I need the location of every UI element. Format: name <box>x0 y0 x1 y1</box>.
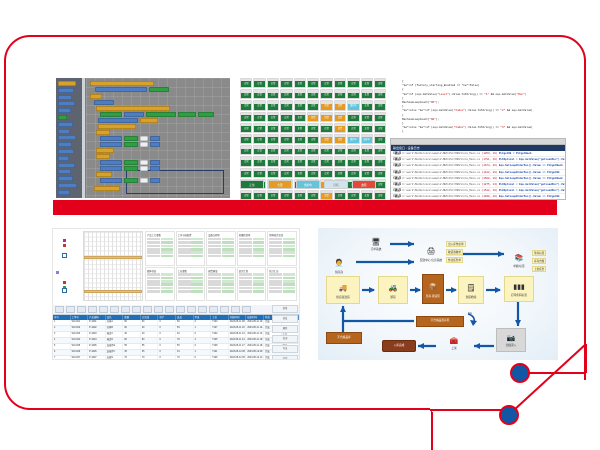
status-cell[interactable]: 正常 <box>267 100 279 110</box>
toolbar-button[interactable] <box>110 306 119 313</box>
status-cell[interactable]: 正常 <box>240 168 252 178</box>
side-action-button[interactable]: 查询 <box>272 335 298 343</box>
toolbar-button[interactable] <box>66 306 75 313</box>
flow-node-doc-stack[interactable]: 📚单据/标签 <box>508 248 530 272</box>
toolbar-button[interactable] <box>231 306 240 313</box>
table-toolbar[interactable] <box>53 305 299 315</box>
parameter-value[interactable] <box>283 248 295 251</box>
status-cell[interactable]: 正常 <box>334 89 346 99</box>
status-cell[interactable]: 维护中 <box>347 100 359 110</box>
workspace-block[interactable] <box>150 142 160 147</box>
status-cell[interactable]: 正常 <box>253 145 265 155</box>
blockly-scrollbar[interactable] <box>82 78 85 198</box>
parameter-value[interactable] <box>283 251 295 254</box>
status-cell[interactable]: 正常 <box>374 168 386 178</box>
tree-node-box[interactable] <box>62 288 67 293</box>
parameter-row[interactable] <box>239 290 265 293</box>
workspace-block[interactable] <box>146 112 176 117</box>
parameter-row[interactable] <box>208 251 234 254</box>
status-cell[interactable]: 正常 <box>334 190 346 200</box>
parameter-row[interactable] <box>178 241 204 244</box>
parameter-value[interactable] <box>253 280 265 283</box>
palette-block[interactable] <box>58 149 74 154</box>
workspace-block[interactable] <box>96 172 112 177</box>
parameter-group[interactable]: 物料批次信息 <box>267 231 297 266</box>
parameter-row[interactable] <box>147 245 173 248</box>
status-cell[interactable]: 告警 <box>334 100 346 110</box>
status-cell[interactable]: 正常 <box>280 145 292 155</box>
blockly-workspace[interactable] <box>86 78 230 198</box>
status-cell[interactable]: 正常 <box>320 156 332 166</box>
status-cell[interactable]: 正常 <box>361 89 373 99</box>
parameter-value[interactable] <box>161 280 173 283</box>
status-cell[interactable]: 告警 <box>320 134 332 144</box>
status-cell[interactable]: 正常 <box>307 168 319 178</box>
parameter-group[interactable]: 设备点检项 <box>206 231 236 266</box>
flow-node-order-system[interactable]: 🖥订单系统 <box>363 234 389 254</box>
status-cell[interactable]: 正常 <box>374 112 386 122</box>
parameter-row[interactable] <box>208 277 234 280</box>
status-cell[interactable]: 正常 <box>361 145 373 155</box>
parameter-value[interactable] <box>222 283 234 286</box>
parameter-row[interactable] <box>269 255 295 258</box>
status-cell[interactable]: 正常 <box>280 168 292 178</box>
workspace-block[interactable] <box>90 81 154 86</box>
status-cell[interactable]: 正常 <box>307 123 319 133</box>
tree-node-marker[interactable] <box>63 244 66 247</box>
status-cell[interactable]: 正常 <box>240 123 252 133</box>
workspace-block[interactable] <box>149 87 169 92</box>
flow-node-reject-zone[interactable]: 不合格品库 <box>326 332 362 344</box>
parameter-row[interactable] <box>178 273 204 276</box>
side-action-button[interactable]: 删除 <box>272 325 298 333</box>
status-cell[interactable]: 正常 <box>240 100 252 110</box>
status-cell[interactable]: 正常 <box>347 190 359 200</box>
parameter-value[interactable] <box>161 251 173 254</box>
workspace-block[interactable] <box>124 160 138 165</box>
status-cell[interactable]: 正常 <box>294 100 306 110</box>
palette-block[interactable] <box>58 176 73 181</box>
palette-block[interactable] <box>58 156 69 161</box>
status-cell[interactable]: 正常 <box>320 123 332 133</box>
status-cell[interactable]: 正常 <box>280 123 292 133</box>
parameter-group[interactable]: 班次计划 <box>237 267 267 302</box>
side-action-button[interactable]: 新增 <box>272 305 298 313</box>
toolbar-button[interactable] <box>198 306 207 313</box>
parameter-row[interactable] <box>147 273 173 276</box>
status-cell[interactable]: 正常 <box>294 78 306 88</box>
status-cell[interactable]: 正常 <box>374 190 386 200</box>
parameter-value[interactable] <box>253 241 265 244</box>
parameter-row[interactable] <box>178 290 204 293</box>
parameter-row[interactable] <box>147 290 173 293</box>
toolbar-button[interactable] <box>132 306 141 313</box>
parameter-value[interactable] <box>222 287 234 290</box>
palette-block[interactable] <box>58 135 76 140</box>
parameter-value[interactable] <box>161 238 173 241</box>
status-cell[interactable]: 正常 <box>253 100 265 110</box>
timeline-bar[interactable] <box>84 256 142 259</box>
status-cell[interactable]: 正常 <box>361 190 373 200</box>
parameter-group[interactable]: 产品工艺参数 <box>145 231 175 266</box>
status-cell[interactable]: 正常 <box>307 156 319 166</box>
parameter-row[interactable] <box>239 280 265 283</box>
toolbar-button[interactable] <box>176 306 185 313</box>
workspace-block[interactable] <box>140 136 148 141</box>
parameter-value[interactable] <box>222 251 234 254</box>
workspace-block[interactable] <box>140 166 148 171</box>
parameter-value[interactable] <box>283 273 295 276</box>
parameter-value[interactable] <box>191 255 203 258</box>
status-cell[interactable]: 告警 <box>334 123 346 133</box>
status-cell[interactable]: 正常 <box>307 89 319 99</box>
status-cell[interactable]: 正常 <box>374 100 386 110</box>
status-cell[interactable]: 正常 <box>253 78 265 88</box>
status-cell[interactable]: 正常 <box>320 168 332 178</box>
status-cell[interactable]: 正常 <box>253 112 265 122</box>
status-cell[interactable]: 正常 <box>334 156 346 166</box>
parameter-row[interactable] <box>269 248 295 251</box>
status-cell[interactable]: 正常 <box>361 78 373 88</box>
parameter-group[interactable]: 线体状态 <box>145 267 175 302</box>
parameter-row[interactable] <box>178 283 204 286</box>
status-cell[interactable]: 维护中 <box>347 134 359 144</box>
status-cell[interactable]: 正常 <box>374 134 386 144</box>
flow-node-supplier[interactable]: 🧑‍💼供应商 <box>324 252 354 278</box>
parameter-value[interactable] <box>222 277 234 280</box>
status-cell[interactable]: 正常 <box>294 134 306 144</box>
workspace-block[interactable] <box>140 142 148 147</box>
workspace-block[interactable] <box>150 160 160 165</box>
parameter-group[interactable]: 工位参数 <box>176 267 206 302</box>
table-side-buttons[interactable]: 新增修改删除查询导出打印关闭 <box>272 305 298 359</box>
status-cell[interactable]: 正常 <box>361 112 373 122</box>
toolbar-button[interactable] <box>220 306 229 313</box>
workspace-block[interactable] <box>100 166 122 171</box>
palette-block[interactable] <box>58 190 70 195</box>
status-cell[interactable]: 正常 <box>267 168 279 178</box>
workspace-block[interactable] <box>100 112 122 117</box>
palette-block[interactable] <box>58 115 67 120</box>
workspace-block[interactable] <box>198 112 214 117</box>
status-cell[interactable]: 正常 <box>347 78 359 88</box>
status-cell[interactable]: 正常 <box>347 89 359 99</box>
parameter-value[interactable] <box>253 238 265 241</box>
status-cell[interactable]: 正常 <box>347 145 359 155</box>
parameter-row[interactable] <box>269 283 295 286</box>
parameter-value[interactable] <box>253 251 265 254</box>
parameter-value[interactable] <box>253 273 265 276</box>
toolbar-button[interactable] <box>55 306 64 313</box>
parameter-row[interactable] <box>208 245 234 248</box>
flow-node-done[interactable]: 入库完成 <box>382 340 416 352</box>
parameter-value[interactable] <box>191 280 203 283</box>
parameter-row[interactable] <box>147 287 173 290</box>
parameter-value[interactable] <box>191 248 203 251</box>
workspace-block[interactable] <box>96 154 110 159</box>
toolbar-button[interactable] <box>77 306 86 313</box>
parameter-row[interactable] <box>208 290 234 293</box>
parameter-value[interactable] <box>191 277 203 280</box>
scada-timeline-grid[interactable] <box>83 231 143 301</box>
parameter-row[interactable] <box>239 248 265 251</box>
parameter-row[interactable] <box>178 251 204 254</box>
status-cell[interactable]: 告警 <box>334 112 346 122</box>
palette-block[interactable] <box>58 101 75 106</box>
workspace-block[interactable] <box>100 142 122 147</box>
workspace-block[interactable] <box>150 178 160 183</box>
parameter-row[interactable] <box>269 251 295 254</box>
parameter-row[interactable] <box>208 238 234 241</box>
parameter-group[interactable]: 报警阈值 <box>206 267 236 302</box>
parameter-row[interactable] <box>178 255 204 258</box>
log-row-list[interactable]: 【调试】C:\work\MesService\sample\MES\PLC\ME… <box>391 151 565 200</box>
palette-block[interactable] <box>58 183 77 188</box>
parameter-value[interactable] <box>222 245 234 248</box>
status-cell[interactable]: 正常 <box>253 89 265 99</box>
status-cell[interactable]: 正常 <box>240 89 252 99</box>
parameter-value[interactable] <box>253 255 265 258</box>
parameter-row[interactable] <box>208 255 234 258</box>
status-cell[interactable]: 正常 <box>280 89 292 99</box>
parameter-value[interactable] <box>283 287 295 290</box>
status-cell[interactable]: 正常 <box>280 78 292 88</box>
parameter-value[interactable] <box>222 290 234 293</box>
parameter-group[interactable]: 统计汇总 <box>267 267 297 302</box>
status-cell[interactable]: 正常 <box>294 145 306 155</box>
status-cell[interactable]: 告警 <box>320 190 332 200</box>
status-cell[interactable]: 正常 <box>307 134 319 144</box>
parameter-row[interactable] <box>239 245 265 248</box>
status-cell[interactable]: 正常 <box>280 156 292 166</box>
status-cell[interactable]: 正常 <box>253 168 265 178</box>
toolbar-button[interactable] <box>143 306 152 313</box>
status-cell[interactable]: 正常 <box>294 89 306 99</box>
toolbar-button[interactable] <box>99 306 108 313</box>
status-cell[interactable]: 正常 <box>280 134 292 144</box>
workspace-block[interactable] <box>140 160 148 165</box>
parameter-row[interactable] <box>208 241 234 244</box>
log-row[interactable]: 【调试】C:\work\MesService\sample\MES\PLC\ME… <box>391 194 565 200</box>
status-cell[interactable]: 正常 <box>374 123 386 133</box>
palette-block[interactable] <box>58 122 73 127</box>
parameter-value[interactable] <box>253 245 265 248</box>
status-cell[interactable]: 正常 <box>374 145 386 155</box>
status-cell[interactable]: 正常 <box>374 156 386 166</box>
workspace-block[interactable] <box>124 166 138 171</box>
parameter-value[interactable] <box>161 248 173 251</box>
status-cell[interactable]: 正常 <box>334 145 346 155</box>
status-cell[interactable]: 正常 <box>240 156 252 166</box>
parameter-value[interactable] <box>191 290 203 293</box>
workspace-block[interactable] <box>98 124 136 129</box>
flow-node-staging[interactable]: 📦暂存 理货区 <box>422 274 444 304</box>
parameter-value[interactable] <box>222 273 234 276</box>
workspace-block[interactable] <box>124 136 138 141</box>
parameter-row[interactable] <box>239 255 265 258</box>
workspace-block[interactable] <box>124 142 138 147</box>
workspace-block[interactable] <box>150 136 160 141</box>
status-cell[interactable]: 正常 <box>267 134 279 144</box>
parameter-value[interactable] <box>253 277 265 280</box>
workspace-block[interactable] <box>98 118 138 123</box>
status-cell[interactable]: 正常 <box>267 89 279 99</box>
parameter-row[interactable] <box>239 238 265 241</box>
status-cell[interactable]: 正常 <box>240 134 252 144</box>
parameter-row[interactable] <box>147 277 173 280</box>
tree-node-marker[interactable] <box>63 239 66 242</box>
workspace-block[interactable] <box>150 166 160 171</box>
parameter-value[interactable] <box>283 290 295 293</box>
status-cell[interactable]: 正常 <box>280 190 292 200</box>
flow-node-inspect[interactable]: 🗒到货检验 <box>458 276 484 304</box>
status-cell[interactable]: 正常 <box>294 156 306 166</box>
status-cell[interactable]: 正常 <box>320 145 332 155</box>
parameter-value[interactable] <box>161 287 173 290</box>
parameter-row[interactable] <box>178 248 204 251</box>
flow-node-delivery[interactable]: 🚚供应商送货 <box>326 276 360 304</box>
parameter-value[interactable] <box>161 241 173 244</box>
status-cell[interactable]: 正常 <box>267 190 279 200</box>
status-cell[interactable]: 正常 <box>294 112 306 122</box>
parameter-row[interactable] <box>178 245 204 248</box>
status-cell[interactable]: 正常 <box>240 78 252 88</box>
flow-node-erp-center[interactable]: 🖨配送中心 信息系统 <box>418 240 444 266</box>
parameter-value[interactable] <box>191 273 203 276</box>
workspace-block[interactable] <box>94 186 120 191</box>
palette-block[interactable] <box>58 129 70 134</box>
status-cell[interactable]: 正常 <box>267 78 279 88</box>
tree-node-marker[interactable] <box>63 281 66 284</box>
parameter-value[interactable] <box>161 245 173 248</box>
status-cell[interactable]: 正常 <box>253 134 265 144</box>
status-cell[interactable]: 正常 <box>320 89 332 99</box>
scada-tree-nodes[interactable] <box>54 231 82 301</box>
status-cell[interactable]: 告警 <box>320 112 332 122</box>
parameter-row[interactable] <box>269 241 295 244</box>
parameter-group[interactable]: 工序节拍配置 <box>176 231 206 266</box>
status-cell[interactable]: 维护中 <box>361 134 373 144</box>
status-cell[interactable]: 告警 <box>334 134 346 144</box>
parameter-value[interactable] <box>161 290 173 293</box>
table-row[interactable]: 7WO-007P-1007支架G70700700T1062023-05-12 0… <box>53 356 299 359</box>
parameter-value[interactable] <box>191 238 203 241</box>
parameter-value[interactable] <box>283 283 295 286</box>
parameter-row[interactable] <box>147 248 173 251</box>
parameter-row[interactable] <box>147 251 173 254</box>
parameter-row[interactable] <box>208 287 234 290</box>
flow-node-reject-area[interactable]: 不合格品暂存区 <box>416 316 464 327</box>
workspace-block[interactable] <box>96 130 110 135</box>
status-cell[interactable]: 正常 <box>361 168 373 178</box>
parameter-value[interactable] <box>222 248 234 251</box>
status-cell[interactable]: 正常 <box>253 123 265 133</box>
timeline-bar[interactable] <box>84 290 142 293</box>
status-cell[interactable]: 正常 <box>240 112 252 122</box>
parameter-value[interactable] <box>253 287 265 290</box>
status-cell[interactable]: 正常 <box>280 112 292 122</box>
parameter-row[interactable] <box>239 283 265 286</box>
parameter-row[interactable] <box>208 248 234 251</box>
parameter-group[interactable]: 质量检验项 <box>237 231 267 266</box>
parameter-row[interactable] <box>147 283 173 286</box>
parameter-row[interactable] <box>147 241 173 244</box>
workspace-block[interactable] <box>94 100 114 105</box>
status-cell[interactable]: 正常 <box>267 123 279 133</box>
workspace-block[interactable] <box>140 118 158 123</box>
status-cell[interactable]: 正常 <box>240 190 252 200</box>
status-cell[interactable]: 正常 <box>253 190 265 200</box>
workspace-block[interactable] <box>90 94 102 99</box>
parameter-row[interactable] <box>178 280 204 283</box>
parameter-row[interactable] <box>208 280 234 283</box>
status-cell[interactable]: 正常 <box>294 123 306 133</box>
parameter-row[interactable] <box>269 245 295 248</box>
palette-block[interactable] <box>58 88 74 93</box>
parameter-row[interactable] <box>269 280 295 283</box>
parameter-value[interactable] <box>283 255 295 258</box>
parameter-row[interactable] <box>269 277 295 280</box>
parameter-value[interactable] <box>161 283 173 286</box>
parameter-value[interactable] <box>283 280 295 283</box>
parameter-value[interactable] <box>253 248 265 251</box>
status-cell[interactable]: 正常 <box>347 123 359 133</box>
parameter-value[interactable] <box>161 255 173 258</box>
toolbar-button[interactable] <box>209 306 218 313</box>
workspace-block[interactable] <box>96 106 170 111</box>
parameter-value[interactable] <box>161 273 173 276</box>
flow-node-putaway[interactable]: 🧰上架 <box>438 332 470 354</box>
parameter-row[interactable] <box>147 280 173 283</box>
parameter-value[interactable] <box>191 241 203 244</box>
palette-block[interactable] <box>58 163 75 168</box>
parameter-value[interactable] <box>283 245 295 248</box>
palette-block[interactable] <box>58 169 71 174</box>
parameter-value[interactable] <box>191 287 203 290</box>
flow-node-unload[interactable]: 🚜卸货 <box>378 276 408 304</box>
toolbar-button[interactable] <box>121 306 130 313</box>
parameter-row[interactable] <box>147 255 173 258</box>
side-action-button[interactable]: 修改 <box>272 315 298 323</box>
status-cell[interactable]: 正常 <box>267 112 279 122</box>
status-cell[interactable]: 正常 <box>361 123 373 133</box>
status-cell[interactable]: 正常 <box>307 78 319 88</box>
parameter-row[interactable] <box>239 273 265 276</box>
parameter-value[interactable] <box>283 277 295 280</box>
status-cell[interactable]: 正常 <box>240 145 252 155</box>
parameter-row[interactable] <box>208 283 234 286</box>
workspace-block[interactable] <box>100 160 122 165</box>
workspace-block[interactable] <box>124 112 144 117</box>
status-cell[interactable]: 正常 <box>347 168 359 178</box>
parameter-row[interactable] <box>239 287 265 290</box>
status-cell[interactable]: 正常 <box>294 190 306 200</box>
status-cell[interactable]: 正常 <box>307 145 319 155</box>
side-action-button[interactable]: 导出 <box>272 345 298 353</box>
toolbar-button[interactable] <box>242 306 251 313</box>
table-body[interactable]: 1WO-001P-1001壳体A50500500T1032023-05-11 0… <box>53 320 299 359</box>
status-cell[interactable]: 正常 <box>307 190 319 200</box>
parameter-row[interactable] <box>239 251 265 254</box>
palette-block[interactable] <box>58 95 72 100</box>
status-cell[interactable]: 告警 <box>320 100 332 110</box>
parameter-value[interactable] <box>283 238 295 241</box>
code-text-area[interactable]: { "kw">if (factory_starting_Enabled == "… <box>390 78 566 138</box>
status-cell[interactable]: 正常 <box>374 78 386 88</box>
parameter-row[interactable] <box>239 277 265 280</box>
status-cell[interactable]: 正常 <box>361 156 373 166</box>
parameter-row[interactable] <box>269 290 295 293</box>
